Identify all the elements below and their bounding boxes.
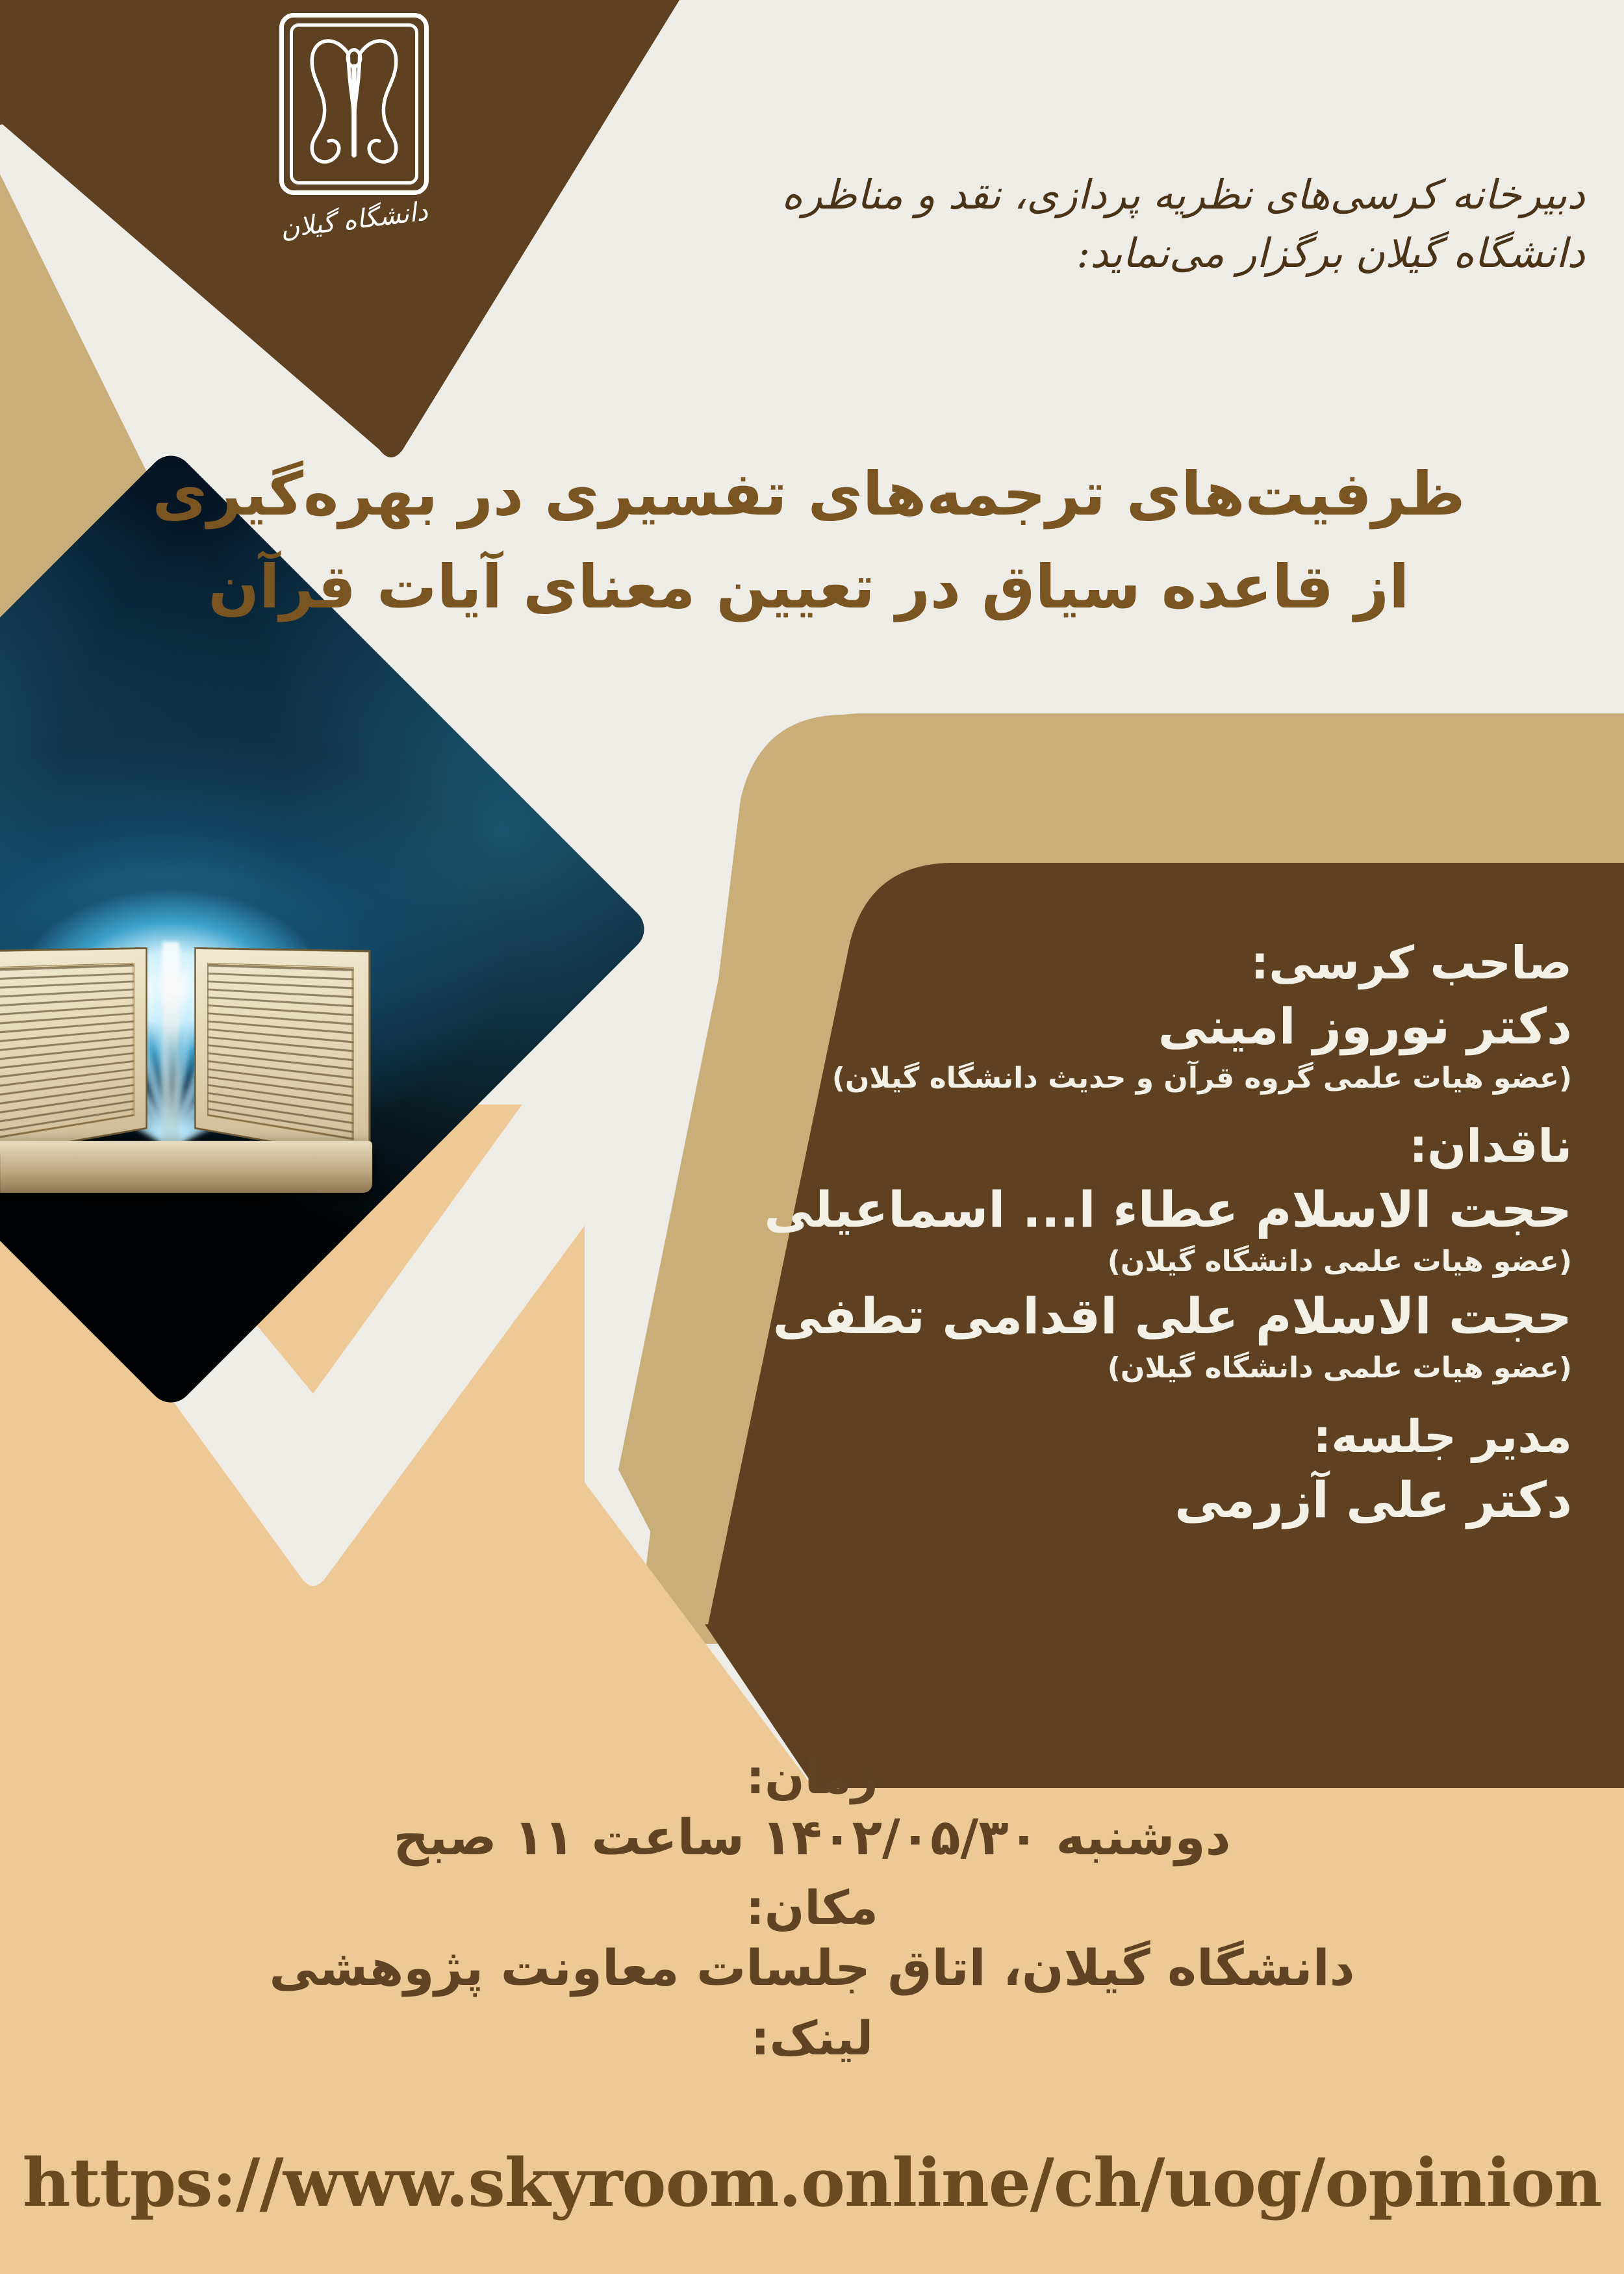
logo-caption: دانشگاه گیلان <box>259 194 449 247</box>
organizer-line-2: دانشگاه گیلان برگزار می‌نماید: <box>643 224 1585 283</box>
quran-text-block <box>207 963 354 1140</box>
place-label: مکان: <box>0 1878 1624 1937</box>
open-quran-book <box>0 949 379 1163</box>
role-session-chair: مدیر جلسه: <box>643 1409 1572 1464</box>
book-page-stack <box>0 1141 372 1193</box>
affiliation-critic-2: (عضو هیات علمی دانشگاه گیلان) <box>643 1349 1572 1386</box>
person-session-chair: دکتر علی آزرمی <box>643 1469 1572 1531</box>
quran-text-block <box>0 963 134 1140</box>
time-label: زمان: <box>0 1748 1624 1806</box>
quran-page-right <box>194 947 370 1160</box>
link-label: لینک: <box>0 2009 1624 2067</box>
schedule-block: زمان: دوشنبه ۱۴۰۲/۰۵/۳۰ ساعت ۱۱ صبح مکان… <box>0 1748 1624 2067</box>
logo-frame <box>279 13 429 195</box>
meeting-link[interactable]: https://www.skyroom.online/ch/uog/opinio… <box>0 2144 1624 2222</box>
time-value: دوشنبه ۱۴۰۲/۰۵/۳۰ ساعت ۱۱ صبح <box>0 1806 1624 1868</box>
title-line-2: از قاعده سیاق در تعیین معنای آیات قرآن <box>65 541 1553 634</box>
affiliation-chair-holder: (عضو هیات علمی گروه قرآن و حدیث دانشگاه … <box>643 1060 1572 1097</box>
role-chair-holder: صاحب کرسی: <box>643 936 1572 990</box>
title-line-1: ظرفیت‌های ترجمه‌های تفسیری در بهره‌گیری <box>65 448 1553 541</box>
place-value: دانشگاه گیلان، اتاق جلسات معاونت پژوهشی <box>0 1937 1624 1999</box>
university-logo: دانشگاه گیلان <box>260 13 448 286</box>
book-spine <box>162 942 179 1150</box>
organizer-line-1: دبیرخانه کرسی‌های نظریه پردازی، نقد و من… <box>781 171 1585 218</box>
participants-list: صاحب کرسی: دکتر نوروز امینی (عضو هیات عل… <box>643 936 1572 1531</box>
gilan-university-emblem-icon <box>284 18 424 193</box>
person-critic-1: حجت الاسلام عطاء ا... اسماعیلی <box>643 1179 1572 1240</box>
affiliation-critic-1: (عضو هیات علمی دانشگاه گیلان) <box>643 1243 1572 1280</box>
organizer-header: دبیرخانه کرسی‌های نظریه پردازی، نقد و من… <box>643 166 1585 283</box>
page-title: ظرفیت‌های ترجمه‌های تفسیری در بهره‌گیری … <box>65 448 1553 633</box>
quran-page-left <box>0 947 147 1160</box>
event-poster: دانشگاه گیلان دبیرخانه کرسی‌های نظریه پر… <box>0 0 1624 2274</box>
role-critics: ناقدان: <box>643 1119 1572 1173</box>
person-chair-holder: دکتر نوروز امینی <box>643 995 1572 1057</box>
person-critic-2: حجت الاسلام علی اقدامی تطفی <box>643 1285 1572 1347</box>
